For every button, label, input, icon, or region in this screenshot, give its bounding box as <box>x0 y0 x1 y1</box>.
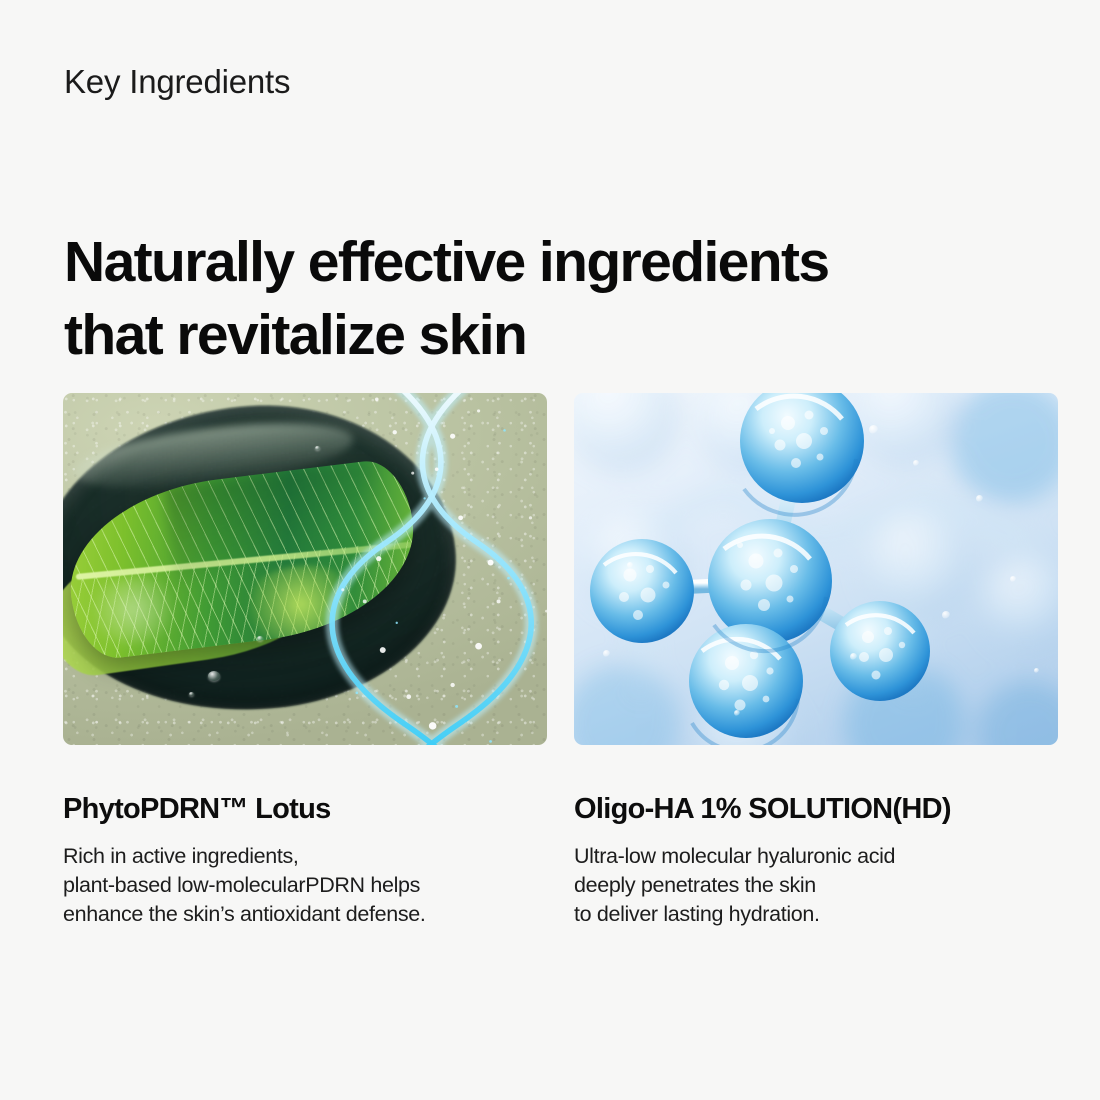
ingredients-page: Key Ingredients Naturally effective ingr… <box>0 0 1100 1100</box>
bokeh-dot <box>734 710 740 716</box>
water-droplet <box>257 636 263 641</box>
molecule-scene <box>574 393 1058 745</box>
bokeh-dot <box>913 460 919 466</box>
bokeh-dot <box>1034 668 1039 673</box>
bokeh-dot <box>976 495 983 502</box>
description-line: Ultra-low molecular hyaluronic acid <box>574 842 1058 871</box>
ingredient-description: Ultra-low molecular hyaluronic acid deep… <box>574 842 1058 929</box>
ingredient-card-oligo-ha: Oligo-HA 1% SOLUTION(HD) Ultra-low molec… <box>574 393 1058 993</box>
bokeh-dot <box>603 650 610 657</box>
description-line: to deliver lasting hydration. <box>574 900 1058 929</box>
ingredient-card-grid: PhytoPDRN™ Lotus Rich in active ingredie… <box>63 393 1058 993</box>
ingredient-title: PhytoPDRN™ Lotus <box>63 794 547 826</box>
ingredient-card-phytopdrn-lotus: PhytoPDRN™ Lotus Rich in active ingredie… <box>63 393 547 993</box>
bokeh-dot <box>869 425 878 434</box>
bokeh-dot <box>1010 576 1016 582</box>
leaf-dna-image <box>63 393 547 745</box>
headline-line-1: Naturally effective ingredients <box>64 226 829 299</box>
leaf-scene <box>63 393 547 745</box>
page-title: Naturally effective ingredients that rev… <box>64 226 829 372</box>
description-line: Rich in active ingredients, <box>63 842 547 871</box>
description-line: plant-based low-molecularPDRN helps <box>63 871 547 900</box>
molecule-image <box>574 393 1058 745</box>
description-line: deeply penetrates the skin <box>574 871 1058 900</box>
water-droplet <box>315 446 320 450</box>
description-line: enhance the skin’s antioxidant defense. <box>63 900 547 929</box>
section-eyebrow: Key Ingredients <box>64 62 290 102</box>
ingredient-title: Oligo-HA 1% SOLUTION(HD) <box>574 794 1058 826</box>
ingredient-description: Rich in active ingredients, plant-based … <box>63 842 547 929</box>
headline-line-2: that revitalize skin <box>64 299 829 372</box>
